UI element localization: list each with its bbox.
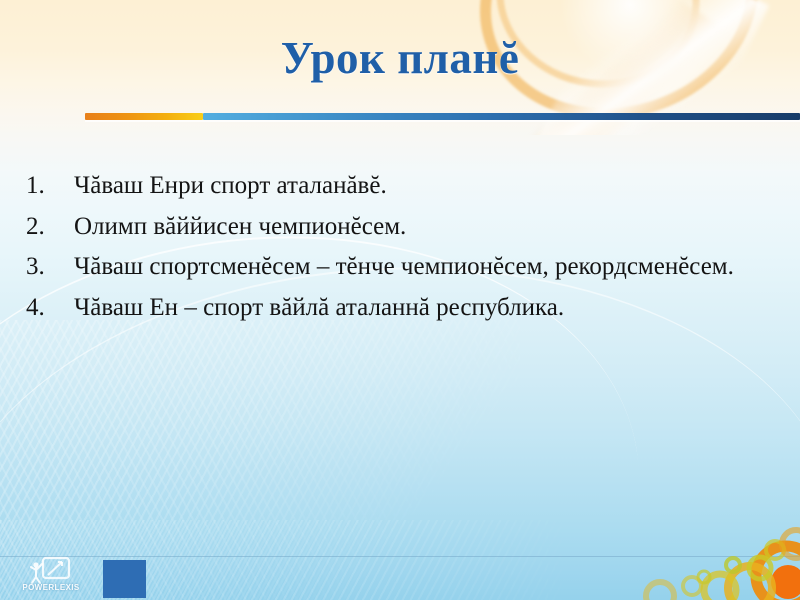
title-divider-rule	[85, 113, 800, 120]
powerlexis-logo-text: POWERLEXIS	[18, 583, 84, 592]
lesson-plan-list: 1. Чăваш Енри спорт аталанăвĕ. 2. Олимп …	[22, 170, 778, 332]
list-item: 3. Чăваш спортсменĕсем – тĕнче чемпионĕс…	[22, 251, 778, 283]
footer-accent-box	[103, 560, 146, 598]
list-item-number: 2.	[22, 211, 74, 243]
list-item: 2. Олимп вăййисен чемпионĕсем.	[22, 211, 778, 243]
presenter-screen-svg	[18, 556, 84, 584]
divider-blue-segment	[203, 113, 800, 120]
circles-svg	[600, 510, 800, 600]
circles-decoration	[600, 510, 800, 600]
powerlexis-logo[interactable]: POWERLEXIS	[18, 556, 84, 598]
list-item: 1. Чăваш Енри спорт аталанăвĕ.	[22, 170, 778, 202]
slide-title: Урок планĕ	[0, 32, 800, 84]
divider-orange-segment	[85, 113, 203, 120]
list-item-number: 1.	[22, 170, 74, 202]
list-item-text: Чăваш Енри спорт аталанăвĕ.	[74, 170, 778, 202]
list-item-number: 4.	[22, 292, 74, 324]
list-item: 4. Чăваш Ен – спорт вăйлă аталаннă респу…	[22, 292, 778, 324]
list-item-number: 3.	[22, 251, 74, 283]
list-item-text: Олимп вăййисен чемпионĕсем.	[74, 211, 778, 243]
divider-highlight	[85, 120, 800, 122]
list-item-text: Чăваш спортсменĕсем – тĕнче чемпионĕсем,…	[74, 251, 778, 283]
presentation-slide: Урок планĕ 1. Чăваш Енри спорт аталанăвĕ…	[0, 0, 800, 600]
list-item-text: Чăваш Ен – спорт вăйлă аталаннă республи…	[74, 292, 778, 324]
presenter-screen-icon	[18, 556, 84, 584]
footer-divider-line	[0, 556, 800, 557]
